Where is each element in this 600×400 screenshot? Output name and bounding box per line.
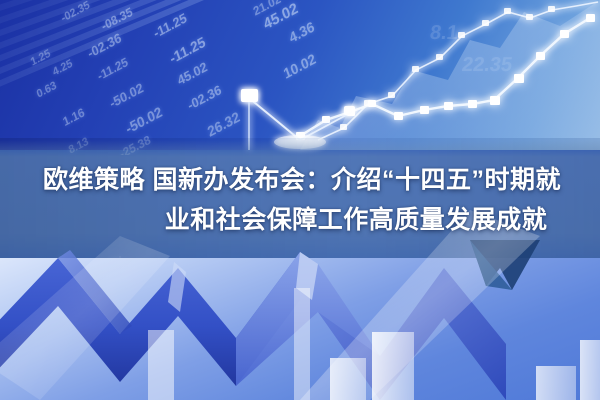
headline-line-2: 业和社会保障工作高质量发展成就 — [0, 200, 600, 240]
banner-image: -11.2545.0221.02-08.35-02.354.36-11.25-0… — [0, 0, 600, 400]
headline-title: 欧维策略 国新办发布会：介绍“十四五”时期就 业和社会保障工作高质量发展成就 — [0, 160, 600, 240]
headline-line-1: 欧维策略 国新办发布会：介绍“十四五”时期就 — [0, 160, 600, 200]
